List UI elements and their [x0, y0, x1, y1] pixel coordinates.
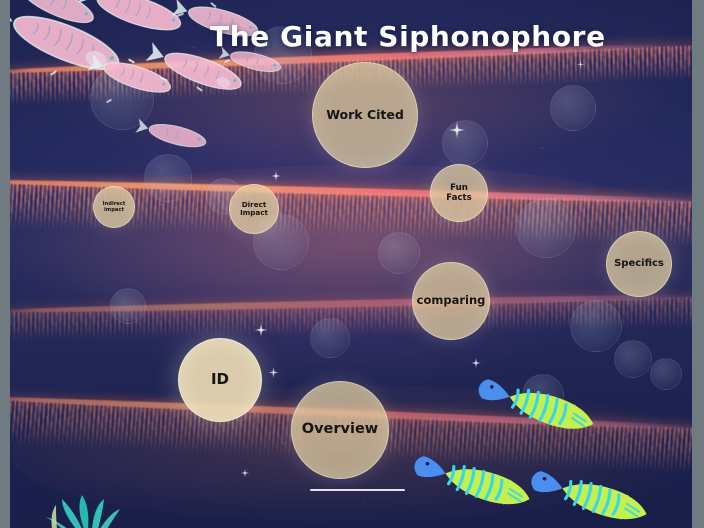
topic-node-comparing[interactable]: comparing — [412, 262, 490, 340]
bokeh-bubble — [650, 358, 682, 390]
topic-label-line1: Fun — [440, 183, 477, 193]
presentation-frame: The Giant Siphonophore Work Cited Indire… — [0, 0, 704, 528]
teal-seaweed — [26, 483, 136, 528]
topic-node-overview[interactable]: Overview — [291, 381, 389, 479]
topic-label: Overview — [296, 421, 384, 438]
bokeh-bubble — [310, 318, 350, 358]
page-title: The Giant Siphonophore — [210, 20, 606, 53]
bokeh-bubble — [570, 300, 622, 352]
bokeh-bubble — [516, 198, 576, 258]
topic-label-line2: Facts — [440, 193, 477, 203]
topic-label: Work Cited — [320, 108, 410, 123]
topic-node-direct-impact[interactable]: Direct Impact — [229, 184, 279, 234]
topic-node-fun-facts[interactable]: Fun Facts — [430, 164, 488, 222]
topic-label-line2: Impact — [234, 209, 274, 217]
bokeh-bubble — [442, 120, 488, 166]
topic-node-id[interactable]: ID — [178, 338, 262, 422]
bokeh-bubble — [550, 85, 596, 131]
topic-node-work-cited[interactable]: Work Cited — [312, 62, 418, 168]
bokeh-bubble — [144, 154, 192, 202]
prezi-canvas[interactable]: The Giant Siphonophore Work Cited Indire… — [10, 0, 692, 528]
bokeh-bubble — [614, 340, 652, 378]
topic-label: Specifics — [608, 258, 670, 270]
topic-label: comparing — [411, 294, 492, 308]
topic-node-specifics[interactable]: Specifics — [606, 231, 672, 297]
bokeh-bubble — [378, 232, 420, 274]
bokeh-bubble — [110, 288, 146, 324]
topic-label: ID — [205, 371, 235, 389]
progress-line[interactable] — [310, 489, 405, 491]
topic-node-indirect-impact[interactable]: Indirect impact — [93, 186, 135, 228]
topic-label-line2: impact — [97, 207, 132, 213]
